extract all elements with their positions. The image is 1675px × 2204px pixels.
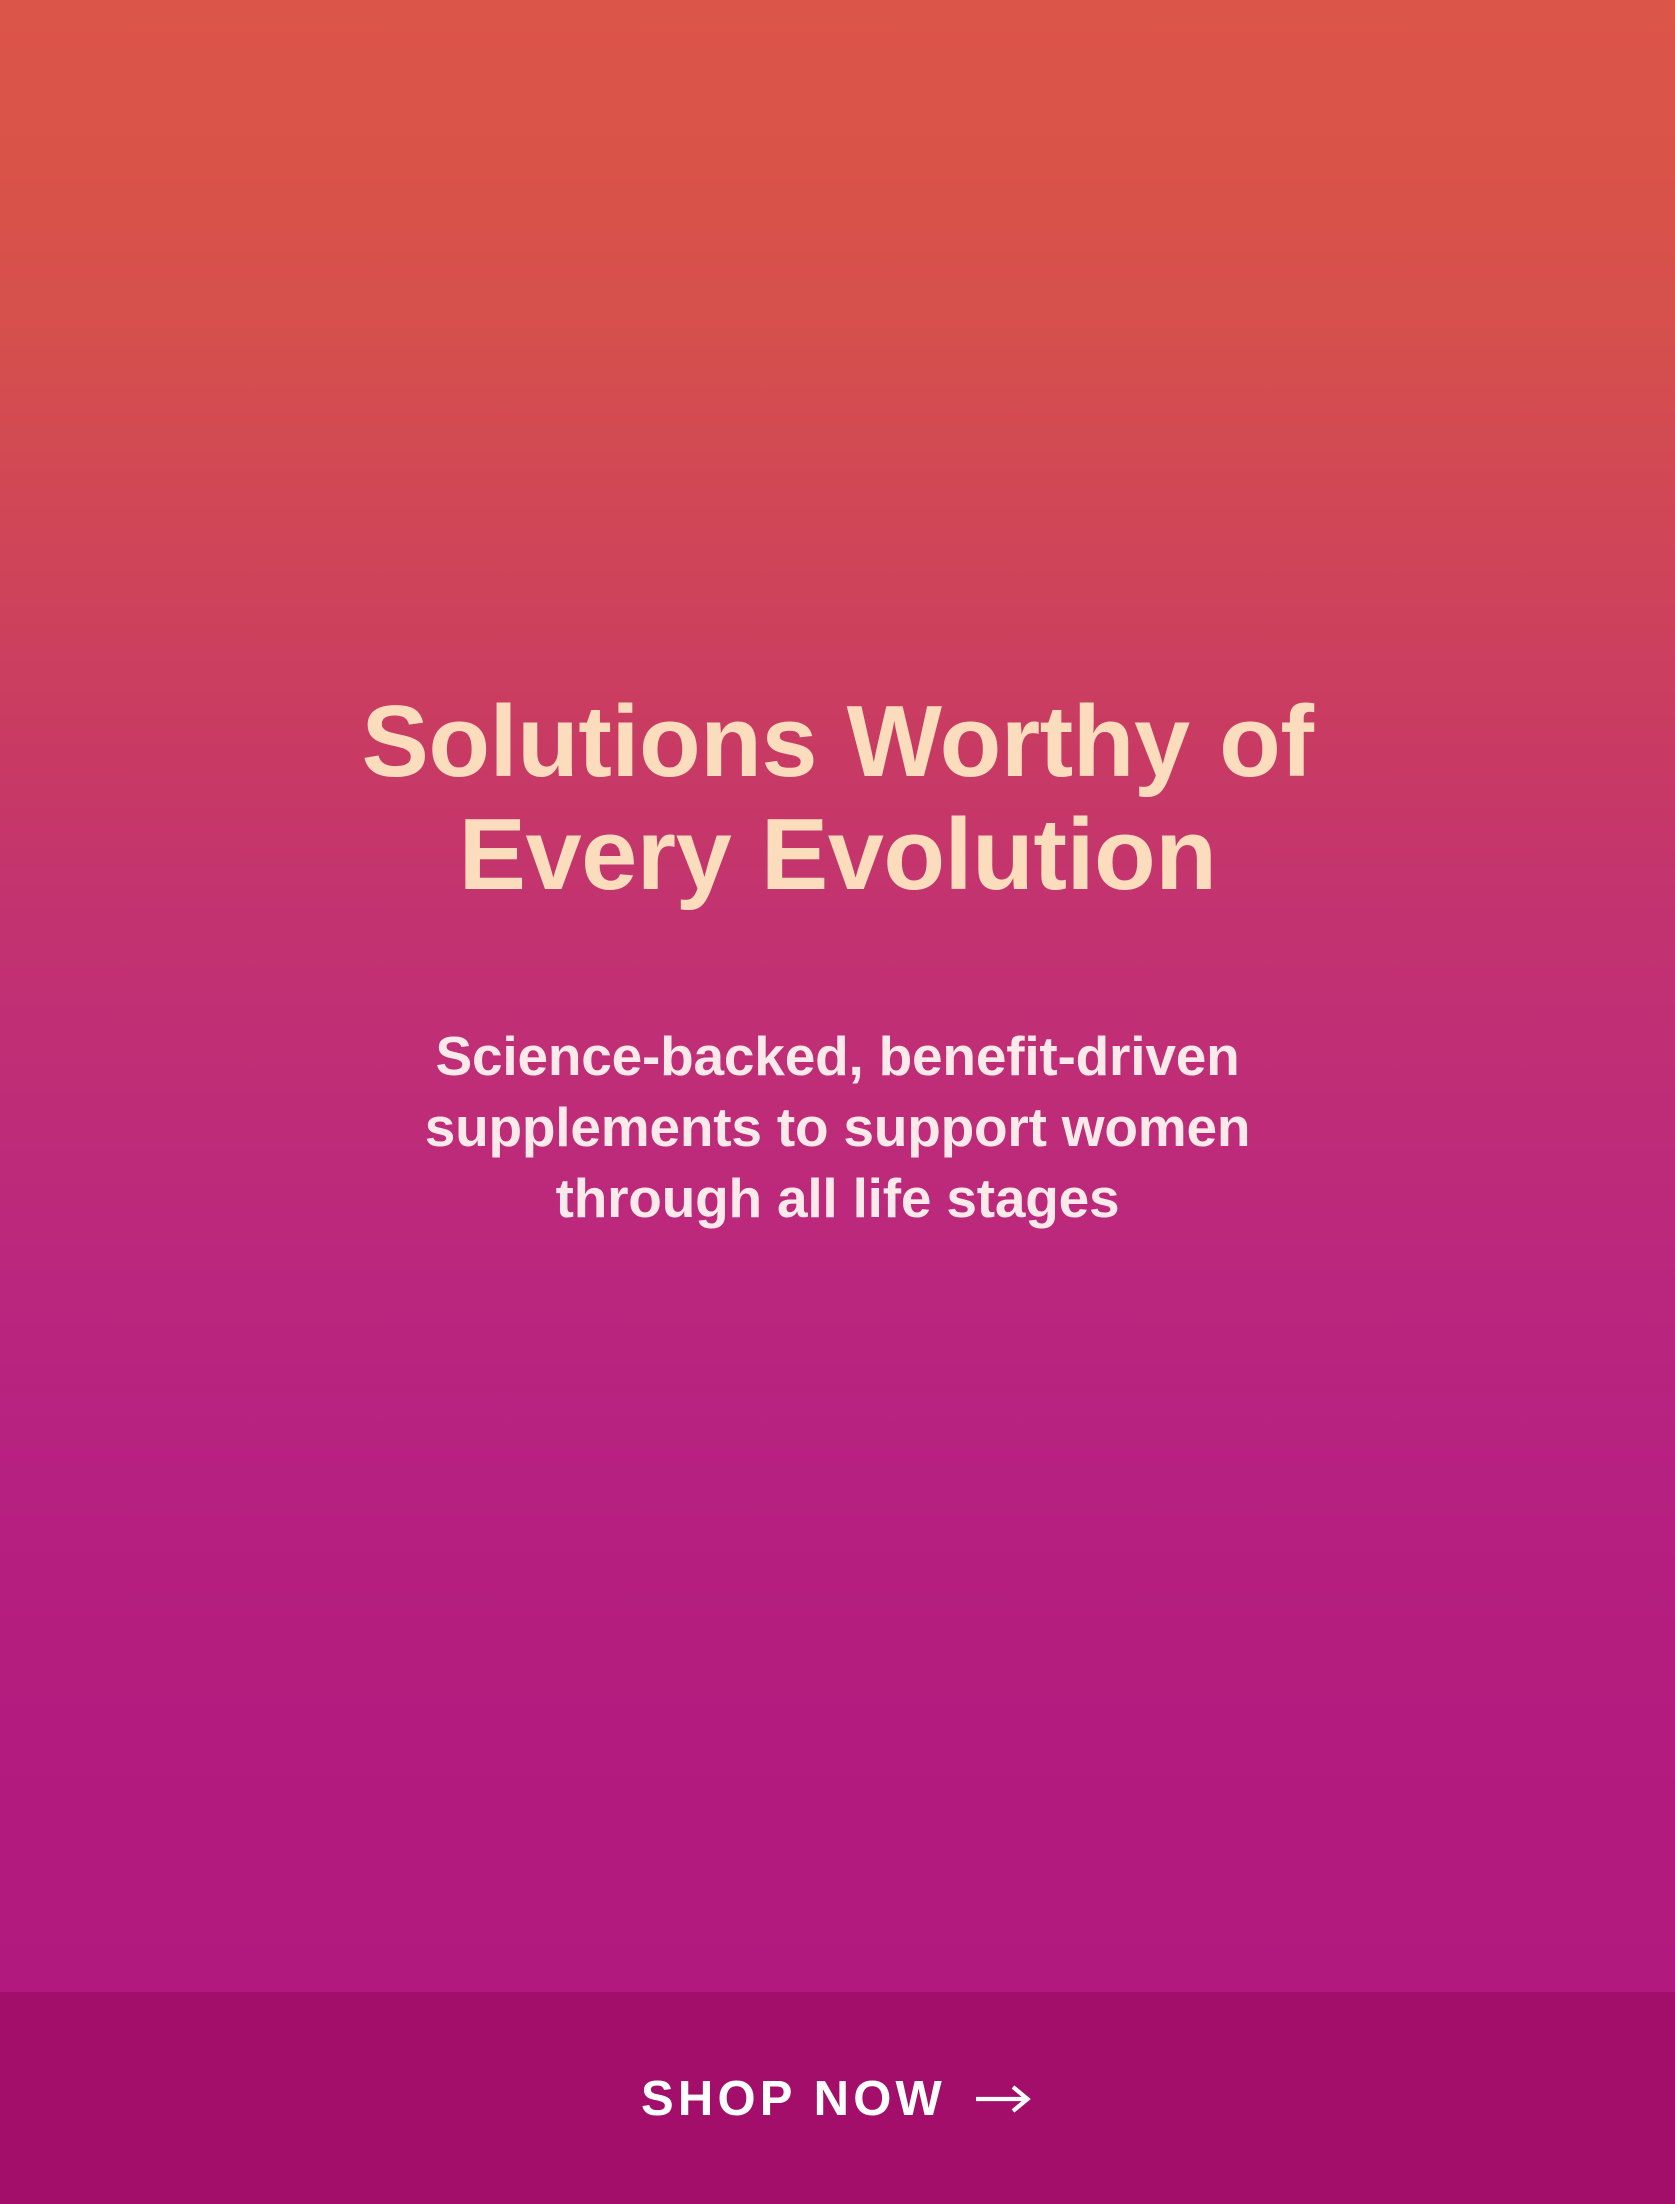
page-title: Solutions Worthy of Every Evolution xyxy=(128,686,1548,910)
copy-block: Solutions Worthy of Every Evolution Scie… xyxy=(128,686,1548,1233)
subhead-line-3: through all life stages xyxy=(128,1163,1548,1234)
headline-line-1: Solutions Worthy of xyxy=(128,686,1548,798)
arrow-right-icon xyxy=(976,2079,1034,2119)
subhead-line-2: supplements to support women xyxy=(128,1092,1548,1163)
subhead-line-1: Science-backed, benefit-driven xyxy=(128,1021,1548,1092)
shop-now-label: SHOP NOW xyxy=(641,2071,946,2127)
shop-now-content: SHOP NOW xyxy=(641,2071,1034,2127)
headline-line-2: Every Evolution xyxy=(128,799,1548,911)
promo-banner: Solutions Worthy of Every Evolution Scie… xyxy=(0,0,1675,2204)
hero-content: Solutions Worthy of Every Evolution Scie… xyxy=(0,0,1675,1992)
page-subtitle: Science-backed, benefit-driven supplemen… xyxy=(128,1021,1548,1234)
shop-now-button[interactable]: SHOP NOW xyxy=(0,1992,1675,2204)
